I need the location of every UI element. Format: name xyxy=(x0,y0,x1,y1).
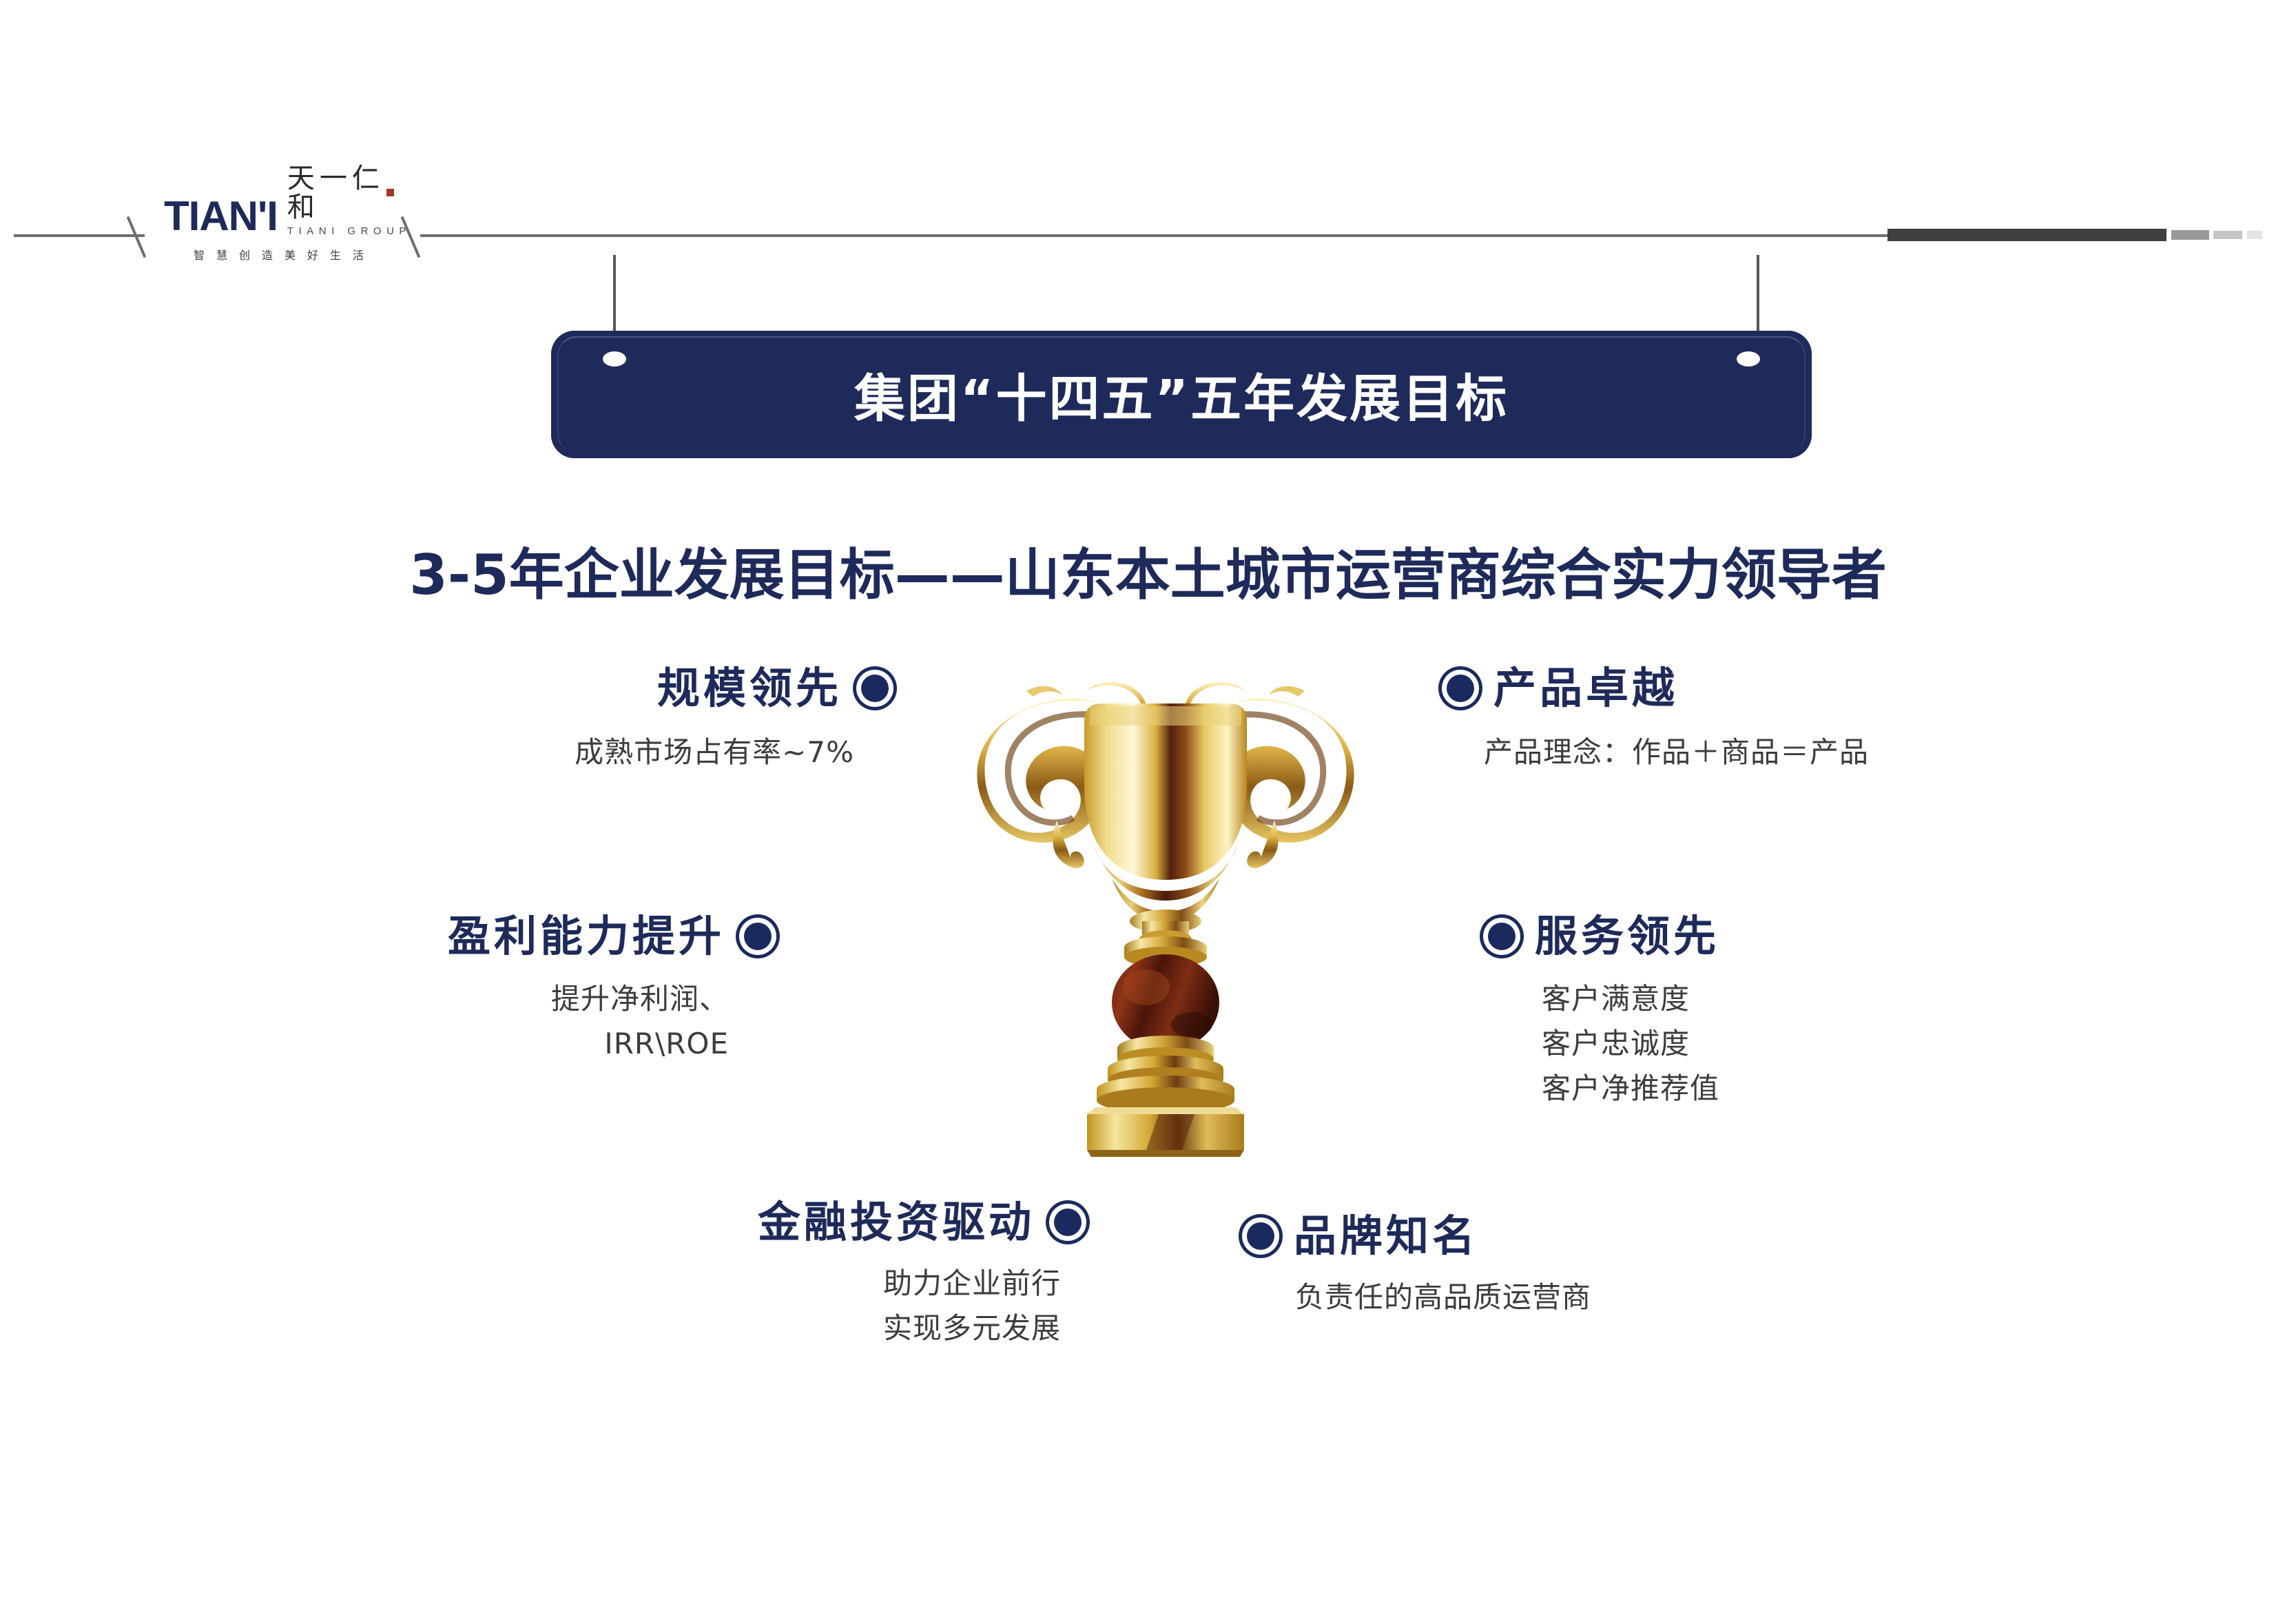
title-banner: 集团“十四五”五年发展目标 xyxy=(551,331,1812,458)
goal-finance-title: 金融投资驱动 xyxy=(758,1199,1035,1246)
goal-service-subline: 客户满意度 xyxy=(1542,976,2101,1021)
goal-service-subline: 客户忠诚度 xyxy=(1542,1021,2101,1066)
goal-profitability-subtext: 提升净利润、 IRR\ROE xyxy=(227,976,778,1066)
goal-item-product: 产品卓越 产品理念：作品＋商品＝产品 xyxy=(1440,665,2129,774)
goal-item-finance: 金融投资驱动 助力企业前行 实现多元发展 xyxy=(565,1199,1088,1350)
goal-finance-subtext: 助力企业前行 实现多元发展 xyxy=(565,1261,1088,1350)
goal-product-subline: 产品理念：作品＋商品＝产品 xyxy=(1484,730,2129,774)
company-logo: TIAN'I 天一仁和 TIANI GROUP 智慧创造美好生活 xyxy=(164,187,412,278)
goal-product-header: 产品卓越 xyxy=(1440,665,2129,712)
goal-service-header: 服务领先 xyxy=(1481,913,2101,960)
header-bar-gray-1 xyxy=(2171,230,2209,240)
goal-profitability-title: 盈利能力提升 xyxy=(448,913,725,960)
goal-scale-subtext: 成熟市场占有率~7% xyxy=(372,730,896,774)
logo-accent-dot-icon xyxy=(386,189,394,196)
header-rule-left xyxy=(14,234,145,237)
logo-tagline: 智慧创造美好生活 xyxy=(164,246,405,263)
header-rule-middle xyxy=(420,234,1901,237)
page-subtitle: 3-5年企业发展目标——山东本土城市运营商综合实力领导者 xyxy=(0,531,2296,610)
goal-brand-subtext: 负责任的高品质运营商 xyxy=(1240,1275,1860,1319)
goal-scale-header: 规模领先 xyxy=(372,665,896,712)
goal-scale-subline: 成熟市场占有率~7% xyxy=(372,730,854,774)
goal-item-profitability: 盈利能力提升 提升净利润、 IRR\ROE xyxy=(227,913,778,1066)
goal-item-service: 服务领先 客户满意度 客户忠诚度 客户净推荐值 xyxy=(1481,913,2101,1111)
goal-brand-title: 品牌知名 xyxy=(1294,1213,1478,1260)
bullseye-marker-icon xyxy=(1488,923,1516,950)
goal-finance-subline: 助力企业前行 xyxy=(565,1261,1061,1306)
header-bar-dark xyxy=(1888,229,2166,241)
bullseye-marker-icon xyxy=(1447,675,1474,702)
bullseye-marker-icon xyxy=(744,923,772,950)
goal-product-subtext: 产品理念：作品＋商品＝产品 xyxy=(1440,730,2129,774)
logo-wordmark: TIAN'I xyxy=(164,196,278,237)
goal-service-subline: 客户净推荐值 xyxy=(1542,1066,2101,1111)
header-bar-gray-3 xyxy=(2247,231,2262,239)
goal-profitability-header: 盈利能力提升 xyxy=(227,913,778,960)
goal-profitability-subline: 提升净利润、 xyxy=(227,976,729,1021)
bullseye-marker-icon xyxy=(1247,1222,1274,1250)
goal-service-subtext: 客户满意度 客户忠诚度 客户净推荐值 xyxy=(1481,976,2101,1111)
banner-title-text: 集团“十四五”五年发展目标 xyxy=(551,331,1812,458)
header-slash-left-icon xyxy=(127,216,147,258)
header-bar-gray-2 xyxy=(2213,231,2242,239)
goal-finance-subline: 实现多元发展 xyxy=(565,1306,1061,1350)
goal-product-title: 产品卓越 xyxy=(1493,665,1678,712)
goal-brand-header: 品牌知名 xyxy=(1240,1213,1860,1260)
goal-scale-title: 规模领先 xyxy=(657,665,842,712)
goal-item-scale: 规模领先 成熟市场占有率~7% xyxy=(372,665,896,774)
goal-profitability-subline: IRR\ROE xyxy=(227,1021,729,1066)
bullseye-marker-icon xyxy=(1054,1209,1082,1236)
gold-trophy-icon xyxy=(952,637,1379,1161)
goal-finance-header: 金融投资驱动 xyxy=(565,1199,1088,1246)
logo-english-name: TIANI GROUP xyxy=(287,225,412,237)
goal-service-title: 服务领先 xyxy=(1535,913,1719,960)
goal-brand-subline: 负责任的高品质运营商 xyxy=(1295,1275,1860,1319)
bullseye-marker-icon xyxy=(861,675,889,702)
goal-item-brand: 品牌知名 负责任的高品质运营商 xyxy=(1240,1213,1860,1319)
